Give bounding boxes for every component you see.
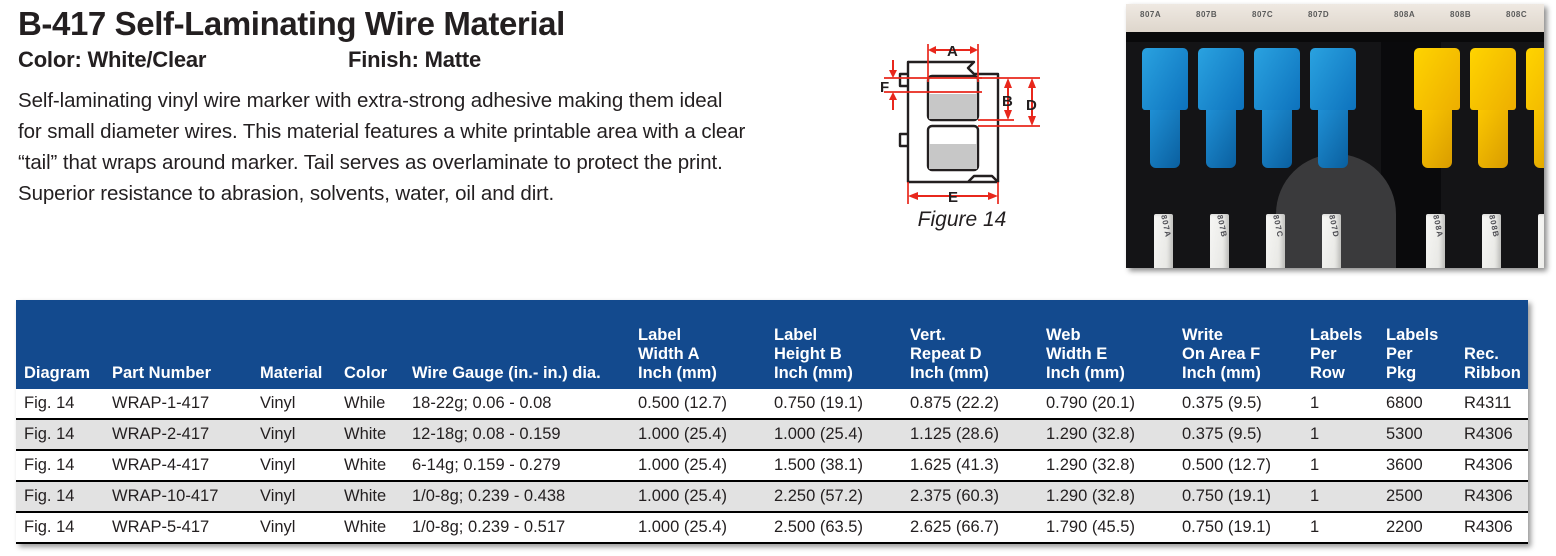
patch-panel-strip: 807A 807B 807C 807D 808A 808B 808C xyxy=(1126,4,1544,32)
cell-label_h: 2.500 (63.5) xyxy=(774,512,910,543)
col-header-vertical-repeat: Vert. Repeat D Inch (mm) xyxy=(910,300,1046,389)
specification-table: Diagram Part Number Material Color Wire … xyxy=(16,300,1528,544)
cell-color: While xyxy=(344,389,412,419)
cell-per_pkg: 2500 xyxy=(1386,481,1464,512)
dimension-label-b: B xyxy=(1002,93,1013,110)
panel-rail-shadow xyxy=(1126,32,1544,42)
wire-connector-1: 807B xyxy=(1198,48,1244,268)
cell-part: WRAP-4-417 xyxy=(112,450,260,481)
cell-color: White xyxy=(344,512,412,543)
col-header-label-width: Label Width A Inch (mm) xyxy=(638,300,774,389)
cell-gauge: 1/0-8g; 0.239 - 0.517 xyxy=(412,512,638,543)
product-description-block: B-417 Self-Laminating Wire Material Colo… xyxy=(18,4,758,230)
panel-label-6: 808C xyxy=(1506,10,1527,19)
panel-label-5: 808B xyxy=(1450,10,1471,19)
dimension-f-arrow xyxy=(889,60,897,110)
cell-ribbon: R4306 xyxy=(1464,419,1528,450)
table-body: Fig. 14WRAP-1-417VinylWhile18-22g; 0.06 … xyxy=(16,389,1528,543)
wire-marker-label: 807A xyxy=(1154,214,1173,268)
cell-vert_rep: 2.375 (60.3) xyxy=(910,481,1046,512)
marker-code-6: 808C xyxy=(1543,214,1544,221)
cell-diagram: Fig. 14 xyxy=(16,450,112,481)
cell-part: WRAP-2-417 xyxy=(112,419,260,450)
attribute-row: Color: White/Clear Finish: Matte xyxy=(18,47,758,75)
wire-marker-label: 808A xyxy=(1426,214,1445,268)
marker-code-5: 808B xyxy=(1487,214,1497,221)
cell-vert_rep: 2.625 (66.7) xyxy=(910,512,1046,543)
cell-write_a: 0.375 (9.5) xyxy=(1182,389,1310,419)
cell-color: White xyxy=(344,481,412,512)
cell-material: Vinyl xyxy=(260,450,344,481)
wire-connector-0: 807A xyxy=(1142,48,1188,268)
cell-web_w: 1.290 (32.8) xyxy=(1046,450,1182,481)
col-header-labels-per-pkg: Labels Per Pkg xyxy=(1386,300,1464,389)
col-header-labels-per-row: Labels Per Row xyxy=(1310,300,1386,389)
connector-neck xyxy=(1318,110,1348,168)
panel-label-1: 807B xyxy=(1196,10,1217,19)
wire-marker-label: 807D xyxy=(1322,214,1341,268)
connector-head xyxy=(1414,48,1460,110)
color-attribute: Color: White/Clear xyxy=(18,47,206,73)
label-chip-upper-shade xyxy=(929,94,977,119)
col-header-part-number: Part Number xyxy=(112,300,260,389)
wire-marker-label: 808B xyxy=(1482,214,1501,268)
cell-per_pkg: 3600 xyxy=(1386,450,1464,481)
panel-label-0: 807A xyxy=(1140,10,1161,19)
cell-write_a: 0.375 (9.5) xyxy=(1182,419,1310,450)
cell-per_row: 1 xyxy=(1310,512,1386,543)
product-photo: 807A 807B 807C 807D 808A 808B 808C 807A … xyxy=(1126,4,1544,268)
marker-code-4: 808A xyxy=(1431,214,1441,221)
cell-color: White xyxy=(344,450,412,481)
cell-label_w: 1.000 (25.4) xyxy=(638,419,774,450)
col-header-wire-gauge: Wire Gauge (in.- in.) dia. xyxy=(412,300,638,389)
col-header-write-on-area: Write On Area F Inch (mm) xyxy=(1182,300,1310,389)
wire-connector-3: 807D xyxy=(1310,48,1356,268)
cell-web_w: 1.790 (45.5) xyxy=(1046,512,1182,543)
cell-diagram: Fig. 14 xyxy=(16,389,112,419)
dimension-label-f: F xyxy=(880,79,889,96)
col-header-rec-ribbon: Rec. Ribbon xyxy=(1464,300,1528,389)
description-text: Self-laminating vinyl wire marker with e… xyxy=(18,85,748,209)
wire-marker-label: 807B xyxy=(1210,214,1229,268)
connector-neck xyxy=(1150,110,1180,168)
cell-label_w: 1.000 (25.4) xyxy=(638,512,774,543)
cell-per_pkg: 2200 xyxy=(1386,512,1464,543)
connector-head xyxy=(1254,48,1300,110)
cell-material: Vinyl xyxy=(260,481,344,512)
cell-label_w: 1.000 (25.4) xyxy=(638,481,774,512)
figure-caption: Figure 14 xyxy=(862,208,1062,232)
connector-head xyxy=(1526,48,1544,110)
col-header-web-width: Web Width E Inch (mm) xyxy=(1046,300,1182,389)
table-row: Fig. 14WRAP-1-417VinylWhile18-22g; 0.06 … xyxy=(16,389,1528,419)
wire-marker-label: 807C xyxy=(1266,214,1285,268)
cell-ribbon: R4306 xyxy=(1464,450,1528,481)
connector-neck xyxy=(1422,110,1452,168)
cell-ribbon: R4306 xyxy=(1464,512,1528,543)
connector-neck xyxy=(1478,110,1508,168)
wire-marker-label: 808C xyxy=(1538,214,1544,268)
col-header-color: Color xyxy=(344,300,412,389)
dimension-label-e: E xyxy=(948,189,958,206)
table-row: Fig. 14WRAP-5-417VinylWhite1/0-8g; 0.239… xyxy=(16,512,1528,543)
cell-ribbon: R4306 xyxy=(1464,481,1528,512)
col-header-label-height: Label Height B Inch (mm) xyxy=(774,300,910,389)
cell-part: WRAP-1-417 xyxy=(112,389,260,419)
cell-part: WRAP-10-417 xyxy=(112,481,260,512)
cell-gauge: 12-18g; 0.08 - 0.159 xyxy=(412,419,638,450)
cell-label_w: 1.000 (25.4) xyxy=(638,450,774,481)
cell-material: Vinyl xyxy=(260,512,344,543)
marker-code-0: 807A xyxy=(1159,214,1169,221)
dimension-label-a: A xyxy=(947,43,958,60)
panel-label-2: 807C xyxy=(1252,10,1273,19)
page-title: B-417 Self-Laminating Wire Material xyxy=(18,4,758,44)
cell-web_w: 1.290 (32.8) xyxy=(1046,419,1182,450)
cell-color: White xyxy=(344,419,412,450)
col-header-material: Material xyxy=(260,300,344,389)
table-header-row: Diagram Part Number Material Color Wire … xyxy=(16,300,1528,389)
product-spec-page: B-417 Self-Laminating Wire Material Colo… xyxy=(0,0,1556,556)
cell-vert_rep: 1.625 (41.3) xyxy=(910,450,1046,481)
cell-per_row: 1 xyxy=(1310,419,1386,450)
cell-label_h: 1.000 (25.4) xyxy=(774,419,910,450)
cell-vert_rep: 1.125 (28.6) xyxy=(910,419,1046,450)
cell-write_a: 0.750 (19.1) xyxy=(1182,512,1310,543)
connector-head xyxy=(1142,48,1188,110)
cell-gauge: 18-22g; 0.06 - 0.08 xyxy=(412,389,638,419)
wire-connector-2: 807C xyxy=(1254,48,1300,268)
cell-diagram: Fig. 14 xyxy=(16,512,112,543)
dimension-label-d: D xyxy=(1026,97,1037,114)
cell-per_pkg: 5300 xyxy=(1386,419,1464,450)
specification-table-wrapper: Diagram Part Number Material Color Wire … xyxy=(16,300,1528,544)
panel-label-4: 808A xyxy=(1394,10,1415,19)
marker-code-1: 807B xyxy=(1215,214,1225,221)
cell-gauge: 1/0-8g; 0.239 - 0.438 xyxy=(412,481,638,512)
cell-label_h: 0.750 (19.1) xyxy=(774,389,910,419)
cell-material: Vinyl xyxy=(260,389,344,419)
marker-code-3: 807D xyxy=(1327,214,1337,221)
connector-neck xyxy=(1262,110,1292,168)
table-header: Diagram Part Number Material Color Wire … xyxy=(16,300,1528,389)
cell-per_row: 1 xyxy=(1310,389,1386,419)
wire-connector-4: 808A xyxy=(1414,48,1460,268)
table-row: Fig. 14WRAP-2-417VinylWhite12-18g; 0.08 … xyxy=(16,419,1528,450)
table-row: Fig. 14WRAP-4-417VinylWhite6-14g; 0.159 … xyxy=(16,450,1528,481)
connector-head xyxy=(1470,48,1516,110)
wire-connector-6: 808C xyxy=(1526,48,1544,268)
cell-per_pkg: 6800 xyxy=(1386,389,1464,419)
marker-code-2: 807C xyxy=(1271,214,1281,221)
cell-part: WRAP-5-417 xyxy=(112,512,260,543)
cell-diagram: Fig. 14 xyxy=(16,419,112,450)
cell-web_w: 0.790 (20.1) xyxy=(1046,389,1182,419)
label-chip-lower-shade xyxy=(929,144,977,169)
finish-attribute: Finish: Matte xyxy=(348,47,481,73)
cell-per_row: 1 xyxy=(1310,481,1386,512)
table-row: Fig. 14WRAP-10-417VinylWhite1/0-8g; 0.23… xyxy=(16,481,1528,512)
cell-per_row: 1 xyxy=(1310,450,1386,481)
wire-connector-5: 808B xyxy=(1470,48,1516,268)
connector-head xyxy=(1310,48,1356,110)
cell-label_h: 1.500 (38.1) xyxy=(774,450,910,481)
col-header-diagram: Diagram xyxy=(16,300,112,389)
cell-ribbon: R4311 xyxy=(1464,389,1528,419)
label-dimension-drawing: A B D E F xyxy=(862,30,1062,210)
connector-neck xyxy=(1206,110,1236,168)
cell-label_w: 0.500 (12.7) xyxy=(638,389,774,419)
cell-diagram: Fig. 14 xyxy=(16,481,112,512)
cell-web_w: 1.290 (32.8) xyxy=(1046,481,1182,512)
cell-material: Vinyl xyxy=(260,419,344,450)
cell-label_h: 2.250 (57.2) xyxy=(774,481,910,512)
cell-vert_rep: 0.875 (22.2) xyxy=(910,389,1046,419)
connector-neck xyxy=(1534,110,1544,168)
panel-label-3: 807D xyxy=(1308,10,1329,19)
cell-write_a: 0.750 (19.1) xyxy=(1182,481,1310,512)
cell-write_a: 0.500 (12.7) xyxy=(1182,450,1310,481)
cell-gauge: 6-14g; 0.159 - 0.279 xyxy=(412,450,638,481)
connector-head xyxy=(1198,48,1244,110)
